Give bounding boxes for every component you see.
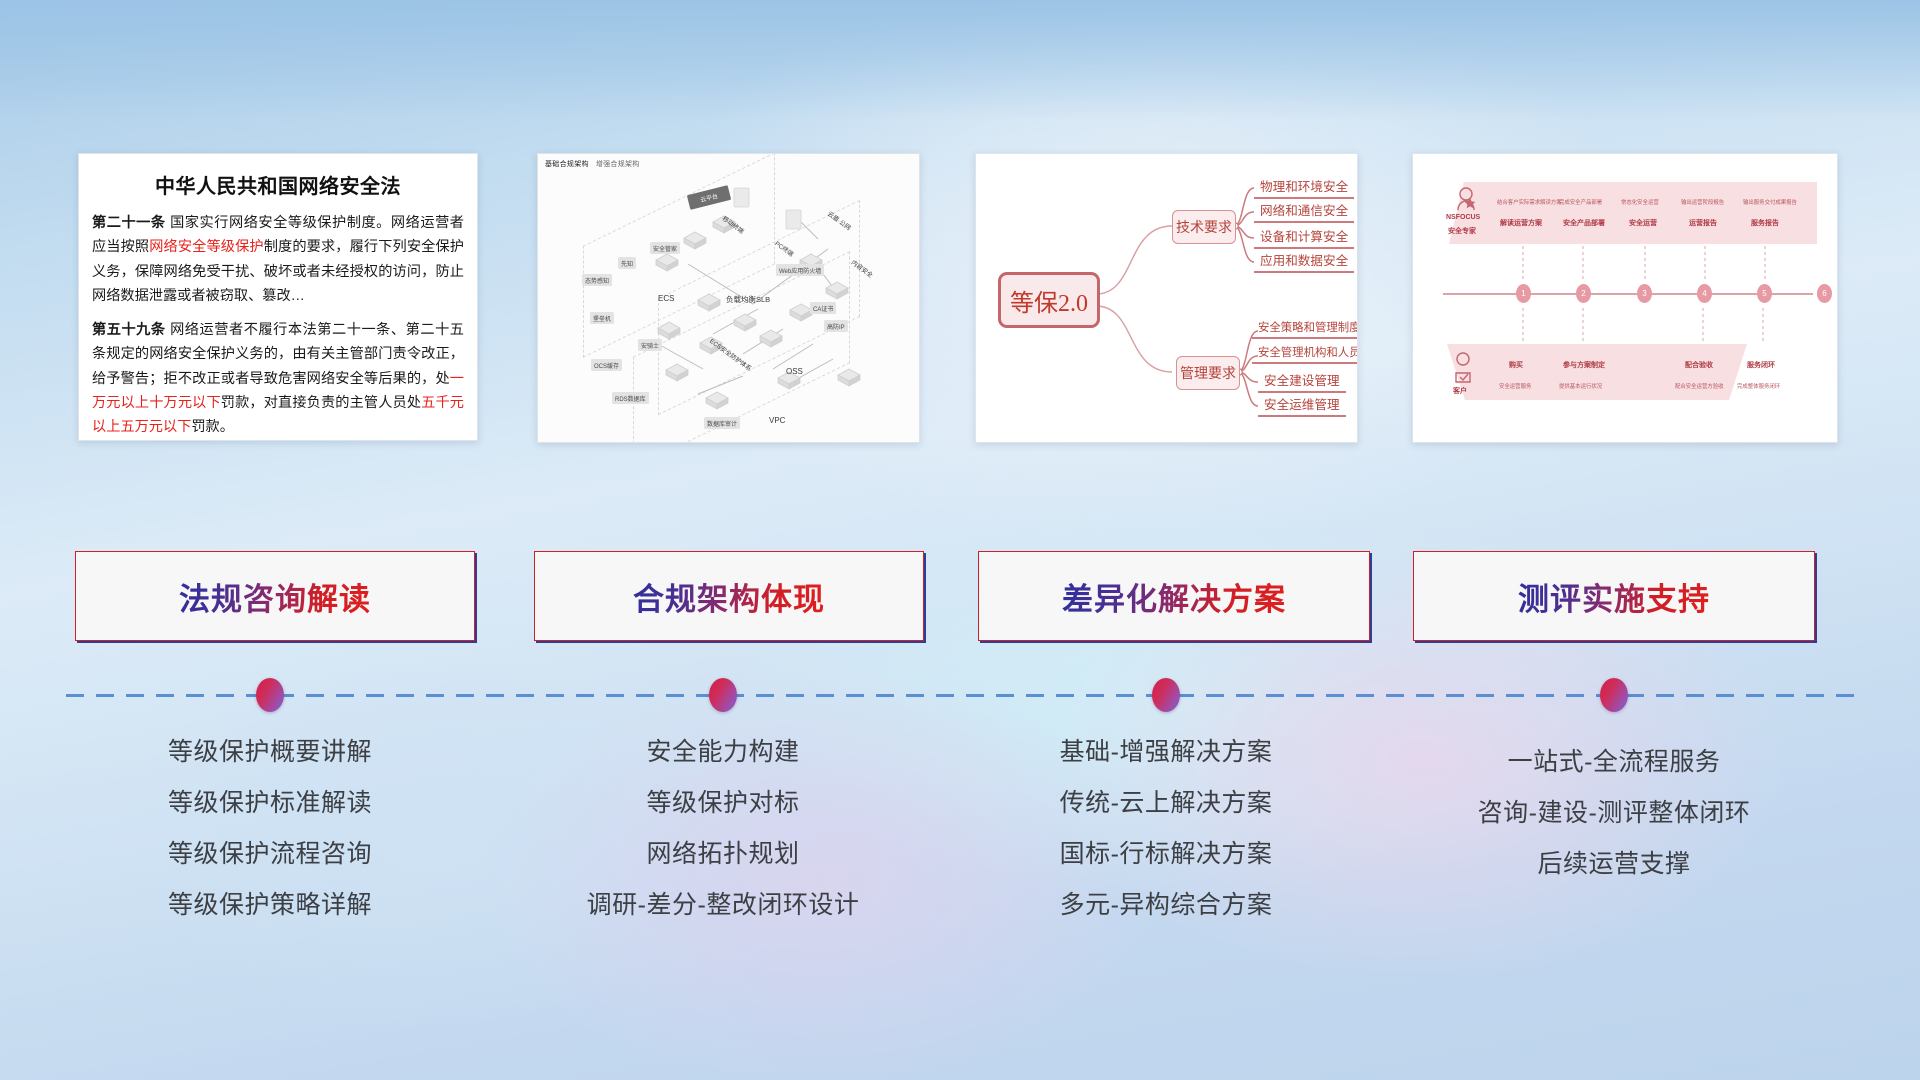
chip-security-butler: 安全管家 (650, 242, 680, 254)
chip-waf: Web应用防火墙 (776, 264, 824, 276)
article-59-label: 第五十九条 (92, 322, 166, 338)
section-title-2: 合规架构体现 (633, 574, 825, 619)
chip-xianzhi: 先知 (618, 257, 636, 269)
article-59-text-c: 罚款。 (191, 419, 234, 435)
timeline-dot-3[interactable] (1152, 678, 1180, 712)
nsfocus-top-step-5: 服务报告 (1751, 218, 1779, 228)
mindmap-leaf-network: 网络和通信安全 (1254, 200, 1354, 223)
nsfocus-card: NSFOCUS 安全专家 客户 解读运营方案 结合客户实际需求解读方案 安全产品… (1412, 153, 1838, 443)
list-item: 等级保护概要讲解 (60, 740, 480, 765)
mindmap-branch-management: 管理要求 (1176, 356, 1240, 390)
nsfocus-customer-label: 客户 (1453, 386, 1467, 396)
list-item: 多元-异构综合方案 (956, 893, 1376, 918)
nsfocus-bottom-step-3: 配合验收 (1685, 360, 1713, 370)
list-item: 网络拓扑规划 (513, 842, 933, 867)
nsfocus-top-step-2: 安全产品部署 (1563, 218, 1605, 228)
nsfocus-top-note-1: 结合客户实际需求解读方案 (1497, 198, 1562, 206)
chip-ocs-cache: OCS缓存 (591, 359, 622, 371)
list-item: 一站式-全流程服务 (1404, 750, 1824, 775)
nsfocus-top-note-5: 输出服务交付成果报告 (1743, 198, 1797, 206)
list-item: 等级保护对标 (513, 791, 933, 816)
architecture-card: 基础合规架构增强合规架构 (537, 153, 920, 443)
nsfocus-bottom-note-3: 配合安全运营方验收 (1675, 382, 1724, 390)
section-title-box-3[interactable]: 差异化解决方案 (978, 551, 1370, 641)
section-items-1: 等级保护概要讲解 等级保护标准解读 等级保护流程咨询 等级保护策略详解 (60, 740, 480, 944)
law-card-title: 中华人民共和国网络安全法 (92, 170, 464, 199)
nsfocus-top-step-1: 解读运营方案 (1500, 218, 1542, 228)
section-title-box-2[interactable]: 合规架构体现 (534, 551, 924, 641)
mindmap-branch-technical: 技术要求 (1172, 210, 1236, 244)
node-oss: OSS (786, 367, 803, 376)
mindmap-leaf-application: 应用和数据安全 (1254, 250, 1354, 273)
nsfocus-step-number-6: 6 (1817, 284, 1832, 303)
mindmap-root: 等保2.0 (998, 272, 1100, 328)
chip-situation-awareness: 态势感知 (582, 274, 612, 286)
node-vpc: VPC (769, 416, 785, 425)
chip-anti-ddos-ip: 高防IP (824, 320, 848, 332)
mindmap-leaf-physical: 物理和环境安全 (1254, 176, 1354, 199)
nsfocus-top-note-4: 输出运营阶段报告 (1681, 198, 1724, 206)
list-item: 等级保护策略详解 (60, 893, 480, 918)
node-ecs: ECS (658, 294, 674, 303)
timeline-dashed-line (66, 694, 1858, 697)
section-items-3: 基础-增强解决方案 传统-云上解决方案 国标-行标解决方案 多元-异构综合方案 (956, 740, 1376, 944)
list-item: 咨询-建设-测评整体闭环 (1404, 801, 1824, 826)
chip-ca-certificate: CA证书 (810, 302, 836, 314)
nsfocus-bottom-note-1: 安全运营服务 (1499, 382, 1531, 390)
list-item: 传统-云上解决方案 (956, 791, 1376, 816)
chip-bastion-host: 堡垒机 (590, 312, 614, 324)
law-article-59: 第五十九条 网络运营者不履行本法第二十一条、第二十五条规定的网络安全保护义务的，… (92, 318, 464, 440)
list-item: 安全能力构建 (513, 740, 933, 765)
list-item: 后续运营支撑 (1404, 852, 1824, 877)
mindmap-leaf-operation: 安全运维管理 (1258, 394, 1346, 417)
nsfocus-top-step-3: 安全运营 (1629, 218, 1657, 228)
nsfocus-bottom-step-1: 购买 (1509, 360, 1523, 370)
section-title-3: 差异化解决方案 (1062, 574, 1286, 619)
section-title-4: 测评实施支持 (1518, 574, 1710, 619)
list-item: 等级保护流程咨询 (60, 842, 480, 867)
nsfocus-top-note-3: 常态化安全运营 (1621, 198, 1659, 206)
list-item: 基础-增强解决方案 (956, 740, 1376, 765)
section-title-1: 法规咨询解读 (179, 574, 371, 619)
chip-rds-db: RDS数据库 (612, 392, 649, 404)
timeline-dot-4[interactable] (1600, 678, 1628, 712)
mindmap-card: 等保2.0 技术要求 管理要求 物理和环境安全 网络和通信安全 设备和计算安全 … (975, 153, 1358, 443)
nsfocus-top-note-2: 完成安全产品部署 (1559, 198, 1602, 206)
section-items-2: 安全能力构建 等级保护对标 网络拓扑规划 调研-差分-整改闭环设计 (513, 740, 933, 944)
nsfocus-bottom-note-2: 提供基本运行状况 (1559, 382, 1602, 390)
section-title-box-1[interactable]: 法规咨询解读 (75, 551, 475, 641)
section-items-4: 一站式-全流程服务 咨询-建设-测评整体闭环 后续运营支撑 (1404, 750, 1824, 903)
article-21-highlight: 网络安全等级保护 (149, 239, 264, 255)
list-item: 国标-行标解决方案 (956, 842, 1376, 867)
nsfocus-top-step-4: 运营报告 (1689, 218, 1717, 228)
nsfocus-step-number-2: 2 (1576, 284, 1591, 303)
list-item: 调研-差分-整改闭环设计 (513, 893, 933, 918)
nsfocus-step-number-4: 4 (1697, 284, 1712, 303)
nsfocus-brand-sub: 安全专家 (1448, 226, 1476, 236)
nsfocus-bottom-step-4: 服务闭环 (1747, 360, 1775, 370)
chip-db-audit: 数据库审计 (704, 417, 740, 429)
section-title-box-4[interactable]: 测评实施支持 (1413, 551, 1815, 641)
chip-anqishi: 安骑士 (638, 339, 662, 351)
nsfocus-step-number-5: 5 (1757, 284, 1772, 303)
article-59-text-b: 罚款，对直接负责的主管人员处 (221, 395, 421, 411)
mindmap-leaf-device: 设备和计算安全 (1254, 226, 1354, 249)
law-card: 中华人民共和国网络安全法 第二十一条 国家实行网络安全等级保护制度。网络运营者应… (78, 153, 478, 441)
timeline-dot-1[interactable] (256, 678, 284, 712)
mindmap-leaf-org: 安全管理机构和人员 (1252, 344, 1358, 364)
list-item: 等级保护标准解读 (60, 791, 480, 816)
nsfocus-brand: NSFOCUS (1446, 214, 1480, 221)
mindmap-leaf-policy: 安全策略和管理制度 (1252, 319, 1358, 339)
timeline-dot-2[interactable] (709, 678, 737, 712)
law-article-21: 第二十一条 国家实行网络安全等级保护制度。网络运营者应当按照网络安全等级保护制度… (92, 211, 464, 309)
article-21-label: 第二十一条 (92, 215, 166, 231)
node-slb: 负载均衡SLB (726, 294, 770, 305)
nsfocus-bottom-note-4: 完成整体服务闭环 (1737, 382, 1780, 390)
nsfocus-step-number-1: 1 (1516, 284, 1531, 303)
nsfocus-bottom-step-2: 参与方案制定 (1563, 360, 1605, 370)
mindmap-leaf-construction: 安全建设管理 (1258, 370, 1346, 393)
nsfocus-step-number-3: 3 (1637, 284, 1652, 303)
